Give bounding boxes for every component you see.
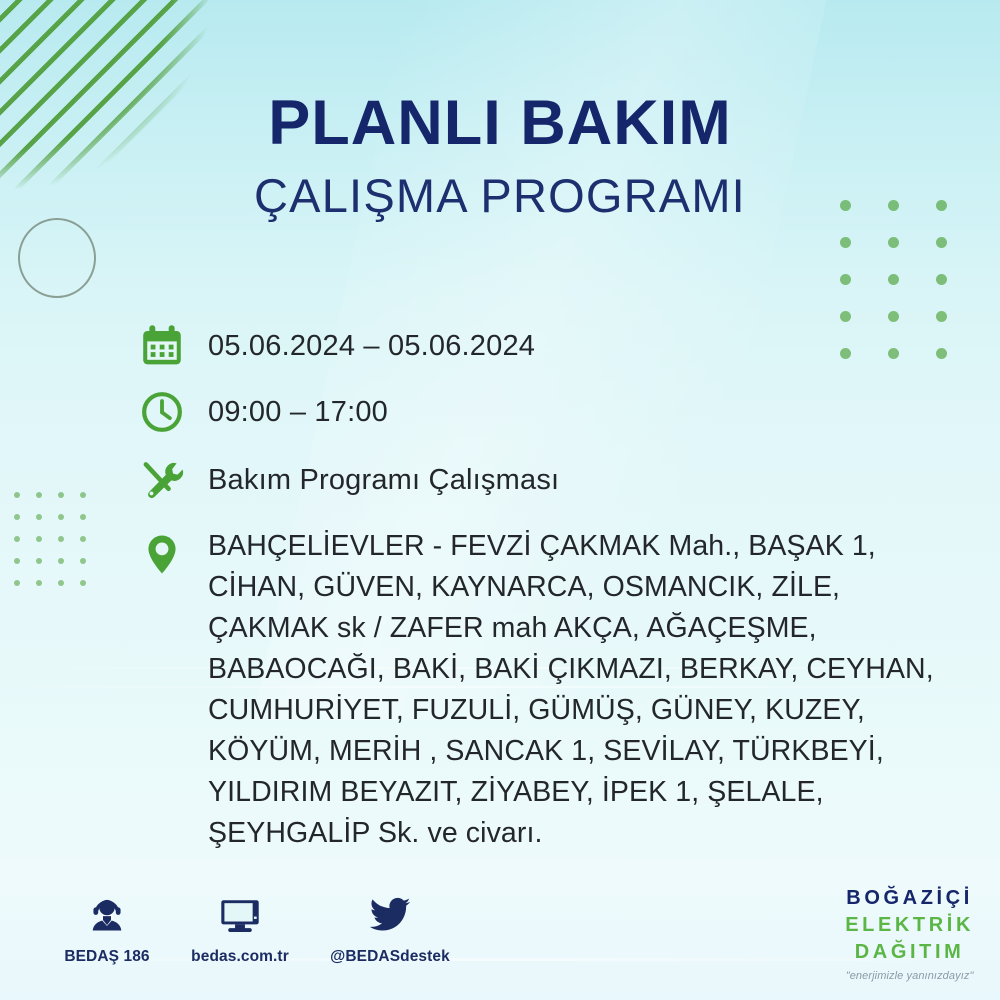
- contact-twitter[interactable]: @BEDASdestek: [314, 890, 466, 966]
- contact-website[interactable]: bedas.com.tr: [180, 890, 300, 966]
- page-title: PLANLI BAKIM: [0, 92, 1000, 155]
- twitter-bird-icon: [314, 890, 466, 938]
- work-type-row: Bakım Programı Çalışması: [136, 454, 956, 506]
- contact-website-label: bedas.com.tr: [180, 948, 300, 966]
- logo-line-bogazici: BOĞAZİÇİ: [845, 888, 974, 908]
- address-line: CİHAN, GÜVEN, KAYNARCA, OSMANCIK, ZİLE,: [208, 567, 934, 608]
- page-footer: BEDAŞ 186 bedas.com.tr @BEDASdestek: [0, 882, 1000, 1000]
- date-row: 05.06.2024 – 05.06.2024: [136, 320, 956, 372]
- clock-icon: [136, 386, 188, 438]
- logo-slogan: "enerjimizle yanınızdayız": [845, 971, 974, 982]
- address-line: KÖYÜM, MERİH , SANCAK 1, SEVİLAY, TÜRKBE…: [208, 731, 934, 772]
- address-line: BABAOCAĞI, BAKİ, BAKİ ÇIKMAZI, BERKAY, C…: [208, 649, 934, 690]
- address-line: BAHÇELİEVLER - FEVZİ ÇAKMAK Mah., BAŞAK …: [208, 526, 934, 567]
- contact-list: BEDAŞ 186 bedas.com.tr @BEDASdestek: [48, 890, 466, 966]
- time-range-value: 09:00 – 17:00: [208, 386, 388, 427]
- contact-phone-label: BEDAŞ 186: [48, 948, 166, 966]
- monitor-icon: [180, 890, 300, 938]
- location-row: BAHÇELİEVLER - FEVZİ ÇAKMAK Mah., BAŞAK …: [136, 526, 956, 854]
- contact-phone[interactable]: BEDAŞ 186: [48, 890, 166, 966]
- work-type-value: Bakım Programı Çalışması: [208, 454, 559, 495]
- time-row: 09:00 – 17:00: [136, 386, 956, 438]
- page-subtitle: ÇALIŞMA PROGRAMI: [0, 171, 1000, 220]
- calendar-icon: [136, 320, 188, 372]
- contact-twitter-label: @BEDASdestek: [314, 948, 466, 966]
- address-text: BAHÇELİEVLER - FEVZİ ÇAKMAK Mah., BAŞAK …: [208, 526, 934, 854]
- address-line: YILDIRIM BEYAZIT, ZİYABEY, İPEK 1, ŞELAL…: [208, 772, 934, 813]
- circle-outline-decoration: [18, 218, 96, 298]
- bedas-logo: BOĞAZİÇİ ELEKTRİK DAĞITIM "enerjimizle y…: [845, 888, 974, 982]
- address-line: ÇAKMAK sk / ZAFER mah AKÇA, AĞAÇEŞME,: [208, 608, 934, 649]
- map-pin-icon: [136, 526, 188, 578]
- address-line: ŞEYHGALİP Sk. ve civarı.: [208, 813, 934, 854]
- dot-grid-left-decoration: [14, 492, 102, 602]
- page-header: PLANLI BAKIM ÇALIŞMA PROGRAMI: [0, 92, 1000, 220]
- logo-line-elektrik: ELEKTRİK: [845, 915, 974, 935]
- date-range-value: 05.06.2024 – 05.06.2024: [208, 320, 535, 361]
- logo-line-dagitim: DAĞITIM: [845, 942, 974, 962]
- tools-icon: [136, 454, 188, 506]
- headset-support-icon: [48, 890, 166, 938]
- outage-info-block: 05.06.2024 – 05.06.2024 09:00 – 17:00 Ba…: [136, 320, 956, 866]
- address-line: CUMHURİYET, FUZULİ, GÜMÜŞ, GÜNEY, KUZEY,: [208, 690, 934, 731]
